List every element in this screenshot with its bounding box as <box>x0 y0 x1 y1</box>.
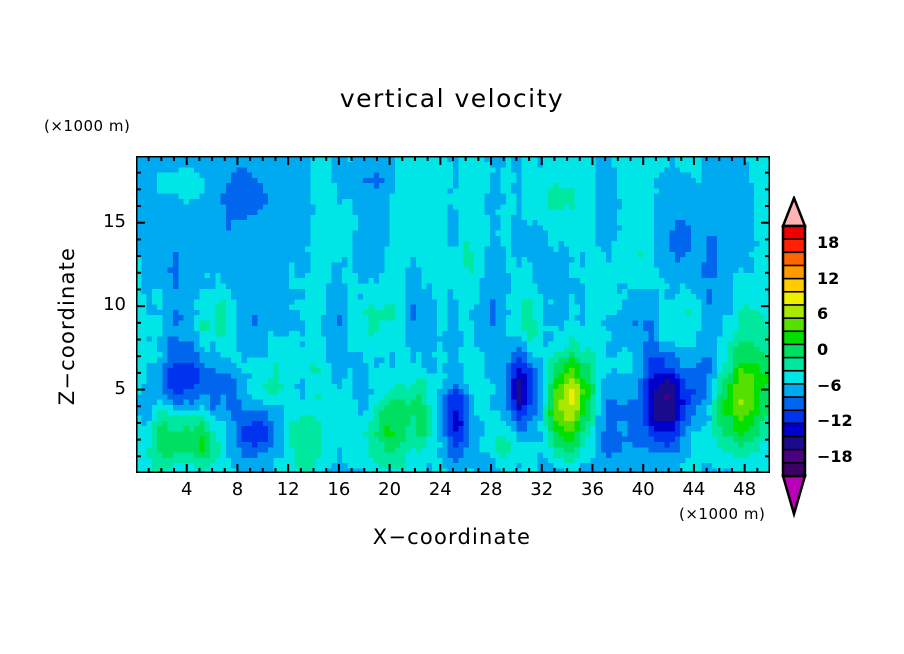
colorbar <box>778 196 812 518</box>
x-tick-label: 24 <box>420 479 460 500</box>
x-tick-label: 32 <box>522 479 562 500</box>
y-axis-title: Z−coordinate <box>55 226 79 426</box>
y-tick-label: 15 <box>86 211 126 232</box>
x-tick-label: 48 <box>725 479 765 500</box>
x-tick-label: 16 <box>319 479 359 500</box>
y-axis-unit-label: (×1000 m) <box>44 117 130 135</box>
colorbar-tick-label: −6 <box>817 376 865 395</box>
x-axis-title: X−coordinate <box>0 525 904 549</box>
x-tick-label: 8 <box>217 479 257 500</box>
x-axis-unit-label: (×1000 m) <box>679 505 765 523</box>
colorbar-tick-label: 18 <box>817 233 865 252</box>
contour-plot-area <box>136 156 770 473</box>
x-tick-label: 4 <box>167 479 207 500</box>
x-tick-label: 40 <box>623 479 663 500</box>
figure-canvas: vertical velocity (×1000 m) (×1000 m) X−… <box>0 0 904 654</box>
x-tick-label: 20 <box>370 479 410 500</box>
x-tick-label: 44 <box>674 479 714 500</box>
colorbar-tick-label: −18 <box>817 447 865 466</box>
y-tick-label: 5 <box>86 378 126 399</box>
chart-title: vertical velocity <box>0 84 904 113</box>
x-tick-label: 28 <box>471 479 511 500</box>
colorbar-tick-label: 6 <box>817 304 865 323</box>
colorbar-tick-label: −12 <box>817 411 865 430</box>
colorbar-tick-label: 0 <box>817 340 865 359</box>
x-tick-label: 36 <box>572 479 612 500</box>
x-tick-label: 12 <box>268 479 308 500</box>
colorbar-tick-label: 12 <box>817 269 865 288</box>
y-tick-label: 10 <box>86 294 126 315</box>
